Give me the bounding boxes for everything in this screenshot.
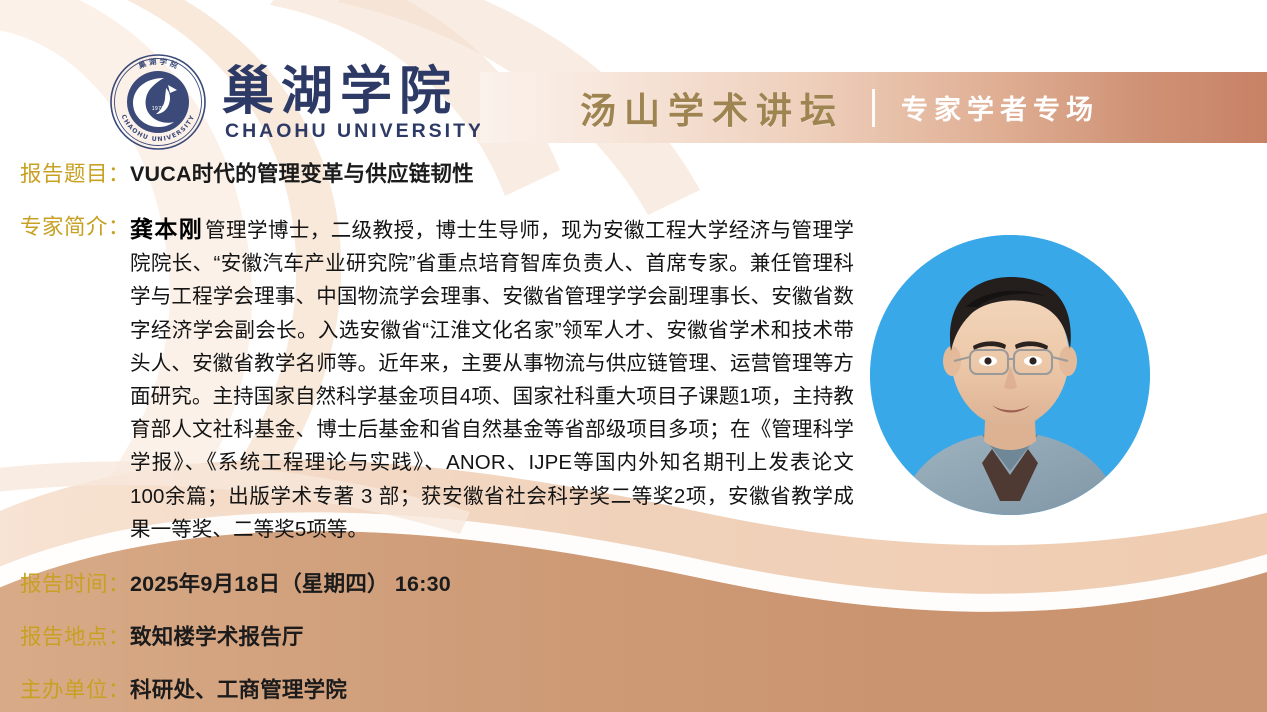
field-time-row: 报告时间： 2025年9月18日（星期四） 16:30	[20, 570, 451, 599]
field-title-row: 报告题目： VUCA时代的管理变革与供应链韧性	[20, 160, 474, 189]
expert-portrait-photo	[870, 235, 1150, 515]
field-title-label: 报告题目：	[20, 160, 130, 189]
expert-name: 龚本刚	[130, 216, 203, 242]
expert-bio-text: 管理学博士，二级教授，博士生导师，现为安徽工程大学经济与管理学院院长、“安徽汽车…	[130, 219, 854, 541]
field-time-label: 报告时间：	[20, 570, 130, 599]
field-bio-row: 专家简介： 龚本刚管理学博士，二级教授，博士生导师，现为安徽工程大学经济与管理学…	[20, 213, 900, 546]
field-host-row: 主办单位： 科研处、工商管理学院	[20, 676, 347, 705]
field-host-label: 主办单位：	[20, 676, 130, 705]
field-place-row: 报告地点： 致知楼学术报告厅	[20, 623, 304, 652]
lecture-poster: 1977 巢 湖 学 院 CHAOHU UNIVERSITY	[0, 0, 1267, 712]
field-host-value: 科研处、工商管理学院	[130, 676, 347, 705]
field-bio-body: 龚本刚管理学博士，二级教授，博士生导师，现为安徽工程大学经济与管理学院院长、“安…	[130, 213, 854, 546]
field-title-value: VUCA时代的管理变革与供应链韧性	[130, 160, 474, 189]
field-place-label: 报告地点：	[20, 623, 130, 652]
field-bio-label: 专家简介：	[20, 213, 130, 242]
field-time-value: 2025年9月18日（星期四） 16:30	[130, 570, 451, 599]
field-place-value: 致知楼学术报告厅	[130, 623, 304, 652]
